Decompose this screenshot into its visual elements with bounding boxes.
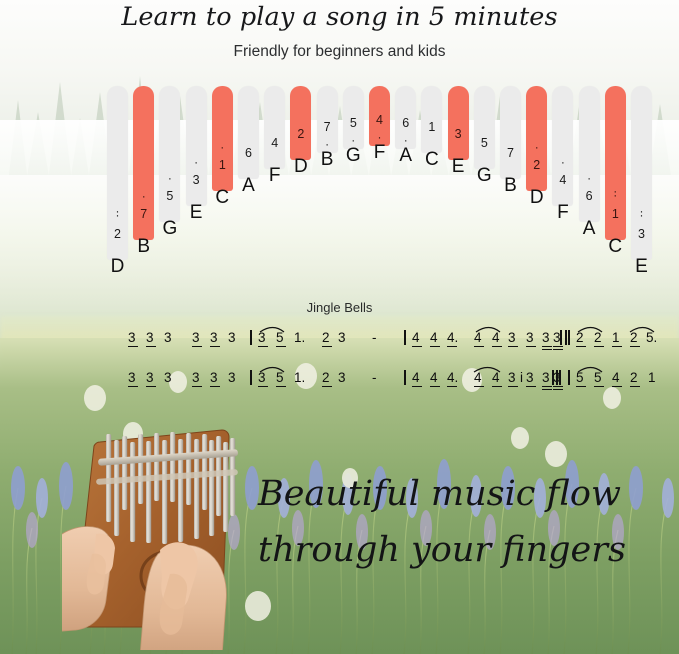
- kalimba-instrument-photo: Kalimba: [62, 424, 262, 650]
- notation-beam: [430, 386, 440, 387]
- notation-note: 3: [128, 331, 136, 345]
- notation-beam: [612, 346, 622, 347]
- notation-barline: [568, 330, 570, 345]
- notation-beam: [258, 386, 268, 387]
- notation-beam: [526, 346, 536, 347]
- notation-note: 3: [526, 331, 534, 345]
- notation-note-high-do: i: [520, 371, 523, 385]
- notation-tie: [628, 323, 658, 333]
- notation-line-1: 333333351.23-444.44333322125.: [0, 330, 679, 360]
- notation-beam-2: [542, 389, 552, 390]
- notation-beam: [447, 386, 457, 387]
- notation-note: 5: [576, 371, 584, 385]
- notation-beam: [594, 346, 604, 347]
- notation-beam: [322, 386, 332, 387]
- notation-note: 3: [338, 331, 346, 345]
- notation-note: 1.: [294, 331, 305, 345]
- notation-note: 2: [322, 371, 330, 385]
- notation-note: 3: [164, 331, 172, 345]
- notation-note: -: [372, 331, 377, 345]
- notation-note: 3: [164, 371, 172, 385]
- notation-note: 3: [192, 331, 200, 345]
- notation-beam: [412, 386, 422, 387]
- notation-note: 3: [228, 371, 236, 385]
- notation-beam: [594, 386, 604, 387]
- notation-note: 3: [508, 371, 516, 385]
- notation-note: 4: [474, 371, 482, 385]
- notation-beam: [576, 386, 586, 387]
- notation-note: 4: [430, 371, 438, 385]
- footer-text-line-2: through your fingers: [258, 530, 626, 570]
- notation-note: 4.: [447, 371, 458, 385]
- notation-note: 3: [526, 371, 534, 385]
- notation-beam: [542, 346, 552, 347]
- notation-beam: [430, 346, 440, 347]
- notation-note: 4: [492, 371, 500, 385]
- notation-tie: [258, 323, 288, 333]
- notation-note: 4: [612, 371, 620, 385]
- notation-beam: [322, 346, 332, 347]
- notation-note: 5: [276, 331, 284, 345]
- notation-beam: [630, 346, 640, 347]
- notation-note: 1.: [294, 371, 305, 385]
- notation-note: 5: [276, 371, 284, 385]
- notation-note: 5: [594, 371, 602, 385]
- notation-note: 3: [258, 371, 266, 385]
- notation-beam: [542, 386, 552, 387]
- notation-note: 4: [492, 331, 500, 345]
- notation-beam: [258, 346, 268, 347]
- notation-beam: [146, 346, 156, 347]
- notation-note: 3: [146, 331, 154, 345]
- notation-beam: [492, 386, 502, 387]
- footer-text-line-1: Beautiful music flow: [258, 474, 621, 514]
- notation-beam: [526, 386, 536, 387]
- notation-note: 3: [338, 371, 346, 385]
- notation-beam: [146, 386, 156, 387]
- notation-barline: [404, 330, 406, 345]
- notation-beam: [447, 346, 457, 347]
- notation-note: 2: [630, 371, 638, 385]
- notation-tie: [576, 363, 606, 373]
- notation-barline: [250, 370, 252, 385]
- notation-note: 3: [228, 331, 236, 345]
- notation-note: 3: [210, 331, 218, 345]
- notation-note: 3: [210, 371, 218, 385]
- notation-note: 2: [576, 331, 584, 345]
- notation-beam: [210, 346, 220, 347]
- notation-note: 5.: [646, 331, 657, 345]
- notation-beam: [128, 386, 138, 387]
- notation-tie: [576, 323, 606, 333]
- notation-note: 2: [594, 331, 602, 345]
- notation-beam: [474, 346, 484, 347]
- notation-beam: [192, 386, 202, 387]
- notation-beam: [276, 346, 286, 347]
- notation-beam: [276, 386, 286, 387]
- notation-beam: [210, 386, 220, 387]
- notation-note: 2: [630, 331, 638, 345]
- notation-beam: [576, 346, 586, 347]
- notation-beam: [474, 386, 484, 387]
- notation-barline: [568, 370, 570, 385]
- notation-note: 2: [322, 331, 330, 345]
- notation-note: 3: [542, 331, 550, 345]
- notation-note: 4.: [447, 331, 458, 345]
- notation-tie: [472, 363, 504, 373]
- notation-beam: [508, 386, 518, 387]
- notation-barline: [250, 330, 252, 345]
- notation-beam: [630, 386, 640, 387]
- notation-beam: [128, 346, 138, 347]
- notation-note: 3: [146, 371, 154, 385]
- notation-final-barline: [560, 330, 562, 345]
- notation-note: 1: [648, 371, 656, 385]
- notation-tie: [474, 323, 504, 333]
- notation-barline: [404, 370, 406, 385]
- notation-double-barline: [552, 370, 554, 385]
- notation-beam-2: [553, 349, 563, 350]
- notation-beam-2: [542, 349, 552, 350]
- notation-note: 3: [128, 371, 136, 385]
- notation-note: 1: [612, 331, 620, 345]
- notation-note: 4: [474, 331, 482, 345]
- notation-note: 4: [412, 331, 420, 345]
- notation-note: 3: [508, 331, 516, 345]
- notation-beam: [553, 386, 563, 387]
- notation-beam: [492, 346, 502, 347]
- notation-beam: [192, 346, 202, 347]
- notation-beam: [612, 386, 622, 387]
- notation-note: 4: [412, 371, 420, 385]
- notation-tie: [258, 363, 288, 373]
- notation-line-2: 333333351.23-444.44333355421i: [0, 370, 679, 400]
- notation-note: -: [372, 371, 377, 385]
- notation-double-barline: [556, 370, 558, 385]
- notation-beam: [412, 346, 422, 347]
- notation-note: 4: [430, 331, 438, 345]
- notation-beam: [553, 346, 563, 347]
- notation-note: 3: [192, 371, 200, 385]
- notation-note: 3: [258, 331, 266, 345]
- notation-beam: [508, 346, 518, 347]
- notation-note: 3: [542, 371, 550, 385]
- notation-beam-2: [553, 389, 563, 390]
